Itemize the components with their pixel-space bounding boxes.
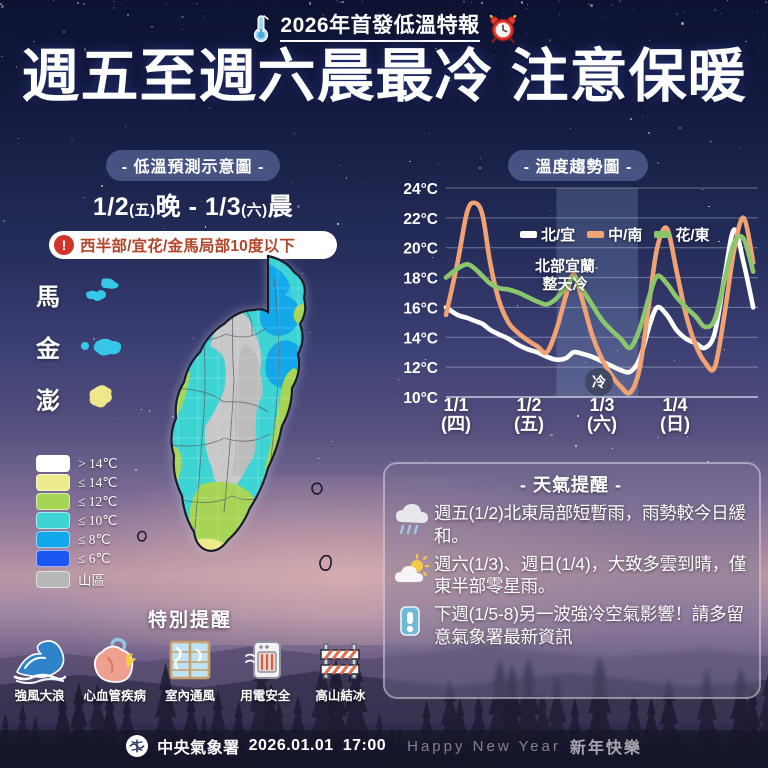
chart-annotation-line2: 整天冷 [542, 276, 587, 293]
legend-label: ≤ 12℃ [78, 494, 117, 510]
taiwan-temperature-map [118, 248, 368, 628]
reminder-note-sunny: 週六(1/3)、週日(1/4)，大致多雲到晴，僅東半部零星雨。 [393, 553, 749, 599]
x-tick-1-weekday: (五) [501, 415, 557, 434]
exclamation-icon: ! [54, 235, 74, 255]
legend-label-north: 北/宜 [541, 224, 575, 245]
x-tick-3: 1/4 (日) [647, 396, 703, 435]
sun-cloud-icon [393, 553, 429, 593]
footer-cny-greeting: 新年快樂 [570, 734, 642, 758]
header-badge-text: 2026年首發低溫特報 [280, 14, 479, 41]
footer-org: 中央氣象署 [157, 734, 240, 758]
legend-swatch [36, 474, 70, 491]
heater-icon [238, 636, 292, 684]
special-item-label: 高山結冰 [307, 685, 374, 704]
map-panel-title: - 低溫預測示意圖 - [106, 150, 281, 181]
map-title-row: - 低溫預測示意圖 - [0, 150, 386, 181]
reminder-note-text: 下週(1/5-8)另一波強冷空氣影響！請多留意氣象署最新資訊 [434, 603, 749, 649]
alert-icon [393, 603, 429, 643]
legend-swatch [36, 571, 70, 588]
window-icon [163, 636, 217, 684]
heart-icon [88, 636, 142, 684]
svg-text:22°C: 22°C [403, 211, 438, 228]
weather-reminder-title: - 天氣提醒 - [393, 471, 749, 497]
special-item-label: 室內通風 [156, 685, 223, 704]
legend-label: > 14℃ [78, 456, 118, 472]
temperature-trend-panel: - 溫度趨勢圖 - 10°C12°C14°C16°C18°C20°C22°C24… [388, 150, 768, 450]
reminder-note-text: 週五(1/2)北東局部短暫雨，雨勢較今日緩和。 [434, 502, 749, 548]
chart-legend-item-central-south: 中/南 [587, 224, 642, 245]
legend-swatch [36, 512, 70, 529]
chart-legend-item-north: 北/宜 [520, 224, 575, 245]
special-item-label: 心血管疾病 [81, 685, 148, 704]
legend-row: ≤ 8℃ [36, 531, 118, 548]
legend-swatch [36, 550, 70, 567]
legend-label: 山區 [78, 569, 105, 589]
chart-area: 10°C12°C14°C16°C18°C20°C22°C24°C 北/宜 中/南… [388, 180, 768, 445]
legend-row: > 14℃ [36, 455, 118, 472]
legend-label: ≤ 6℃ [78, 551, 111, 567]
svg-text:20°C: 20°C [403, 241, 438, 258]
chart-annotation-line1: 北部宜蘭 [535, 258, 595, 275]
footer-date: 2026.01.01 [249, 737, 334, 755]
island-penghu-label: 澎 [34, 381, 62, 416]
chart-panel-title: - 溫度趨勢圖 - [508, 150, 649, 181]
poster-root: 2026年首發低溫特報 週五至週六晨最冷 注意保暖 - 低溫預測示意圖 - 1/… [0, 0, 768, 768]
island-matsu-label: 馬 [34, 277, 62, 312]
legend-label: ≤ 14℃ [78, 475, 117, 491]
legend-swatch [36, 531, 70, 548]
legend-row: ≤ 10℃ [36, 512, 118, 529]
legend-dash-central-south [587, 231, 604, 238]
header-badge-row: 2026年首發低溫特報 [0, 11, 768, 45]
legend-swatch [36, 455, 70, 472]
chart-legend: 北/宜 中/南 花/東 [520, 224, 710, 245]
header: 2026年首發低溫特報 週五至週六晨最冷 注意保暖 [0, 0, 768, 108]
footer-time: 17:00 [343, 737, 386, 755]
svg-text:24°C: 24°C [403, 181, 438, 198]
legend-dash-north [520, 231, 537, 238]
special-item-label: 用電安全 [232, 685, 299, 704]
weather-reminder-card: - 天氣提醒 - 週五(1/2)北東局部短暫雨，雨勢較今日緩和。 [383, 462, 761, 699]
x-tick-3-date: 1/4 [647, 396, 703, 415]
alarm-clock-icon [489, 13, 517, 43]
legend-row: ≤ 12℃ [36, 493, 118, 510]
cwa-logo-icon [126, 735, 148, 757]
legend-row: ≤ 6℃ [36, 550, 118, 567]
special-item-strong-wind: 強風大浪 [6, 636, 73, 704]
barrier-icon [313, 636, 367, 684]
footer: 中央氣象署 2026.01.01 17:00 Happy New Year 新年… [0, 734, 768, 758]
date-dash: - [181, 193, 205, 221]
map-date-range: 1/2(五)晚 - 1/3(六)晨 [0, 187, 386, 223]
chart-legend-item-hualien-east: 花/東 [654, 224, 709, 245]
chart-title-row: - 溫度趨勢圖 - [388, 150, 768, 181]
thermometer-icon [251, 13, 271, 43]
footer-happy-new-year: Happy New Year [407, 738, 561, 755]
special-reminder-section: 特別提醒 強風大浪 [0, 605, 380, 704]
island-kinmen-label: 金 [34, 329, 62, 364]
reminder-note-alert: 下週(1/5-8)另一波強冷空氣影響！請多留意氣象署最新資訊 [393, 603, 749, 649]
page-headline: 週五至週六晨最冷 注意保暖 [0, 47, 768, 108]
cold-badge: 冷 [585, 368, 613, 396]
svg-text:12°C: 12°C [403, 360, 438, 377]
legend-label: ≤ 8℃ [78, 532, 111, 548]
temperature-legend: > 14℃ ≤ 14℃ ≤ 12℃ ≤ 10℃ ≤ 8℃ ≤ 6℃ [36, 455, 118, 591]
legend-swatch [36, 493, 70, 510]
legend-label: ≤ 10℃ [78, 513, 117, 529]
rain-cloud-icon [393, 502, 429, 542]
date-end-weekday: (六) [241, 202, 268, 219]
legend-row: 山區 [36, 569, 118, 589]
special-item-ventilation: 室內通風 [156, 636, 223, 704]
date-start-weekday: (五) [129, 202, 156, 219]
x-tick-0-date: 1/1 [428, 396, 484, 415]
date-end-word: 晨 [268, 193, 294, 221]
x-tick-3-weekday: (日) [647, 415, 703, 434]
date-start-word: 晚 [156, 193, 182, 221]
legend-label-hualien-east: 花/東 [675, 224, 709, 245]
special-reminder-row: 強風大浪 心血管疾病 [0, 636, 380, 704]
x-tick-1: 1/2 (五) [501, 396, 557, 435]
reminder-note-rain: 週五(1/2)北東局部短暫雨，雨勢較今日緩和。 [393, 502, 749, 548]
legend-label-central-south: 中/南 [608, 224, 642, 245]
svg-text:16°C: 16°C [403, 300, 438, 317]
svg-text:18°C: 18°C [403, 271, 438, 288]
x-tick-2: 1/3 (六) [574, 396, 630, 435]
chart-x-axis-labels: 1/1 (四) 1/2 (五) 1/3 (六) 1/4 (日) [388, 396, 768, 442]
chart-annotation: 北部宜蘭 整天冷 [510, 258, 620, 295]
legend-row: ≤ 14℃ [36, 474, 118, 491]
special-item-label: 強風大浪 [6, 685, 73, 704]
x-tick-1-date: 1/2 [501, 396, 557, 415]
special-item-mountain-ice: 高山結冰 [307, 636, 374, 704]
special-item-cardiovascular: 心血管疾病 [81, 636, 148, 704]
x-tick-2-weekday: (六) [574, 415, 630, 434]
svg-text:14°C: 14°C [403, 330, 438, 347]
date-end: 1/3 [205, 193, 241, 221]
x-tick-0-weekday: (四) [428, 415, 484, 434]
legend-dash-hualien-east [654, 231, 671, 238]
x-tick-2-date: 1/3 [574, 396, 630, 415]
wave-icon [13, 636, 67, 684]
special-item-electric-safety: 用電安全 [232, 636, 299, 704]
map-panel: - 低溫預測示意圖 - 1/2(五)晚 - 1/3(六)晨 ! 西半部/宜花/金… [0, 150, 386, 259]
x-tick-0: 1/1 (四) [428, 396, 484, 435]
date-start: 1/2 [93, 193, 129, 221]
special-reminder-title: 特別提醒 [0, 605, 380, 632]
reminder-note-text: 週六(1/3)、週日(1/4)，大致多雲到晴，僅東半部零星雨。 [434, 553, 749, 599]
